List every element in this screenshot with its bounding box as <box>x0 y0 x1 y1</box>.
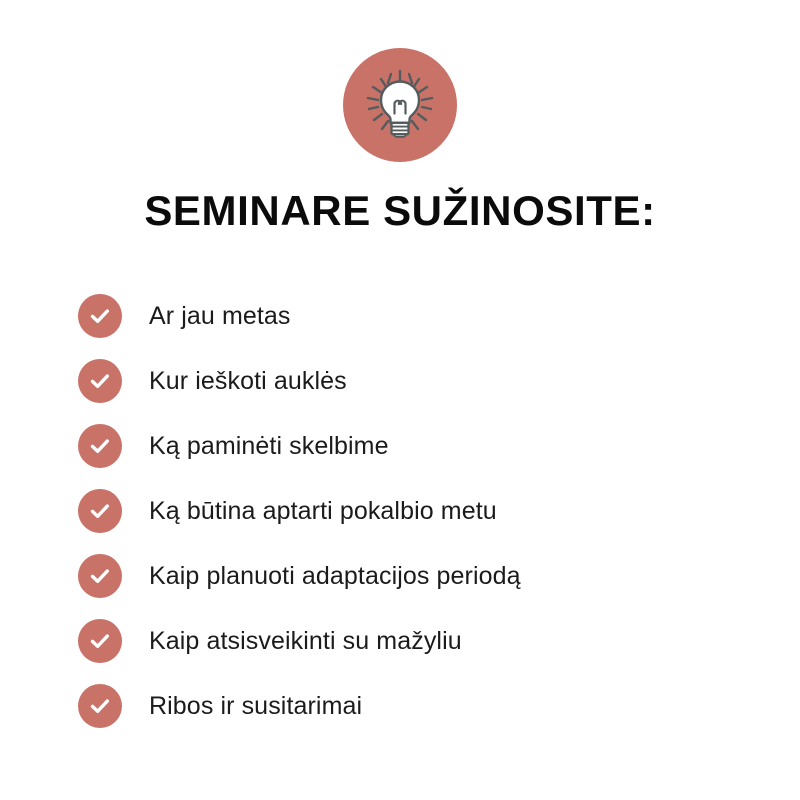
list-item-label: Ar jau metas <box>149 302 291 331</box>
seminar-topics-poster: SEMINARE SUŽINOSITE: Ar jau metas Kur ie… <box>0 0 800 800</box>
header-icon-area <box>0 48 800 162</box>
check-icon <box>78 424 122 468</box>
list-item-label: Kaip atsisveikinti su mažyliu <box>149 627 462 656</box>
list-item-label: Ribos ir susitarimai <box>149 692 362 721</box>
topics-checklist: Ar jau metas Kur ieškoti auklės Ką pamin… <box>78 294 778 728</box>
list-item: Kaip atsisveikinti su mažyliu <box>78 619 778 663</box>
list-item-label: Ką būtina aptarti pokalbio metu <box>149 497 497 526</box>
list-item: Kaip planuoti adaptacijos periodą <box>78 554 778 598</box>
list-item: Ribos ir susitarimai <box>78 684 778 728</box>
lightbulb-icon <box>360 65 440 145</box>
list-item: Ką būtina aptarti pokalbio metu <box>78 489 778 533</box>
lightbulb-badge <box>343 48 457 162</box>
list-item-label: Ką paminėti skelbime <box>149 432 389 461</box>
list-item: Kur ieškoti auklės <box>78 359 778 403</box>
page-title: SEMINARE SUŽINOSITE: <box>0 186 800 236</box>
check-icon <box>78 619 122 663</box>
check-icon <box>78 489 122 533</box>
check-icon <box>78 554 122 598</box>
check-icon <box>78 294 122 338</box>
check-icon <box>78 359 122 403</box>
list-item: Ką paminėti skelbime <box>78 424 778 468</box>
list-item-label: Kur ieškoti auklės <box>149 367 347 396</box>
list-item-label: Kaip planuoti adaptacijos periodą <box>149 562 521 591</box>
list-item: Ar jau metas <box>78 294 778 338</box>
check-icon <box>78 684 122 728</box>
